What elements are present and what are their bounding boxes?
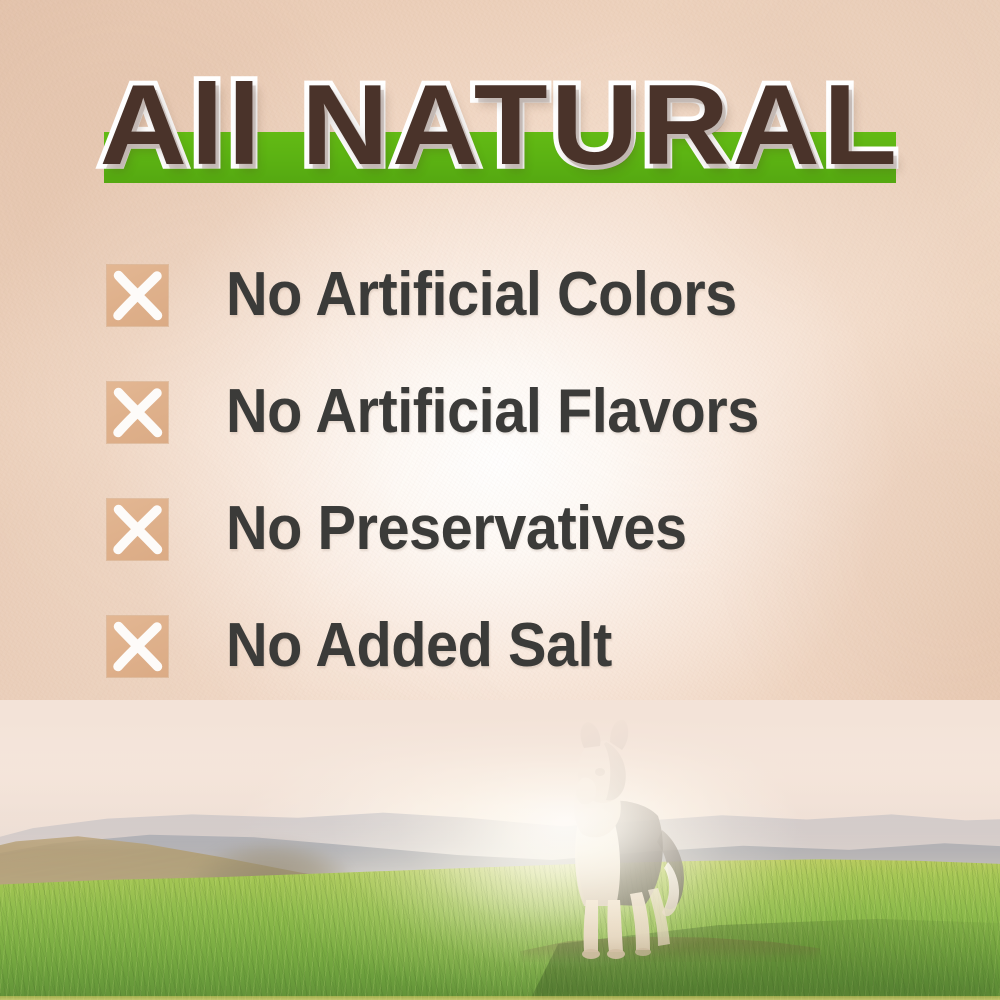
- list-item: No Preservatives: [0, 486, 1000, 572]
- all-natural-feature-panel: All NATURAL No Artificial Colors No Arti…: [0, 0, 1000, 1000]
- list-item-label: No Artificial Flavors: [226, 381, 759, 443]
- x-mark-icon: [107, 382, 168, 443]
- page-title: All NATURAL: [0, 62, 1000, 187]
- list-item: No Artificial Flavors: [0, 369, 1000, 455]
- claims-list: No Artificial Colors No Artificial Flavo…: [0, 252, 1000, 689]
- x-mark-icon: [107, 265, 168, 326]
- x-mark-icon: [107, 616, 168, 677]
- list-item: No Artificial Colors: [0, 252, 1000, 338]
- x-mark-icon: [107, 499, 168, 560]
- headline-banner: All NATURAL: [0, 66, 1000, 196]
- list-item-label: No Artificial Colors: [226, 264, 737, 326]
- list-item: No Added Salt: [0, 603, 1000, 689]
- list-item-label: No Preservatives: [226, 498, 687, 560]
- dog-illustration: [512, 712, 712, 964]
- hero-photo: [0, 700, 1000, 1000]
- list-item-label: No Added Salt: [226, 615, 612, 677]
